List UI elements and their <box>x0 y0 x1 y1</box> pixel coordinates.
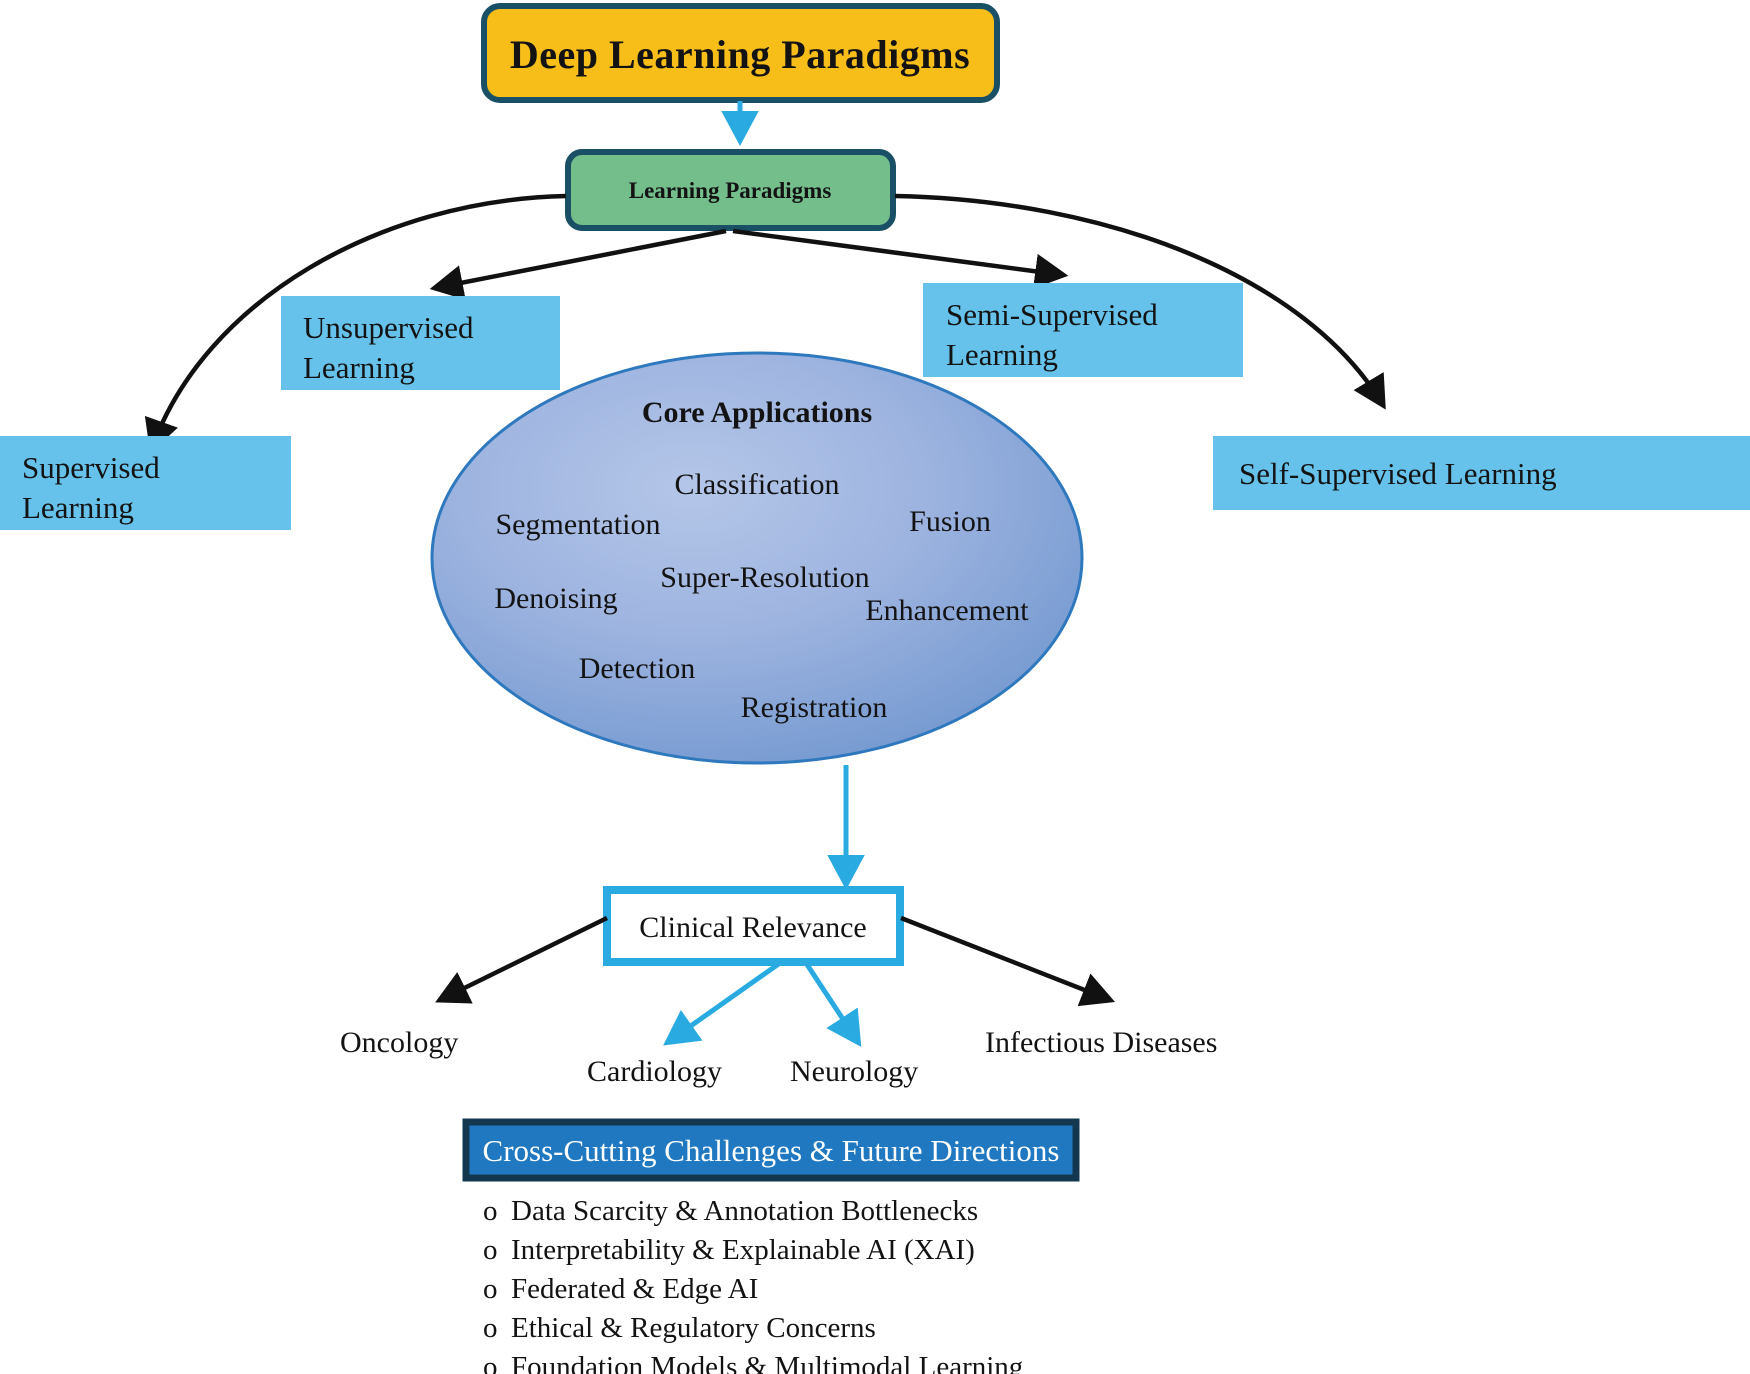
unsupervised-learning-box: Unsupervised Learning <box>281 296 560 390</box>
bullet-marker-2: o <box>483 1273 498 1305</box>
bullet-marker-4: o <box>483 1351 498 1374</box>
title-box: Deep Learning Paradigms <box>484 6 997 100</box>
cross-cutting-header: Cross-Cutting Challenges & Future Direct… <box>466 1122 1076 1178</box>
core-app-registration: Registration <box>741 691 888 724</box>
bullet-marker-1: o <box>483 1234 498 1266</box>
arrow-to-oncology <box>440 918 607 1000</box>
arrow-to-neurology <box>806 963 858 1042</box>
deep-learning-paradigms-diagram: Deep Learning Paradigms Learning Paradig… <box>0 0 1750 1374</box>
bullet-item-2: Federated & Edge AI <box>511 1273 758 1305</box>
cross-cutting-header-label: Cross-Cutting Challenges & Future Direct… <box>483 1133 1060 1168</box>
arrow-to-semi-supervised <box>733 231 1063 275</box>
self-supervised-learning-label: Self-Supervised Learning <box>1239 456 1557 491</box>
core-applications-ellipse: Core Applications Classification Segment… <box>432 353 1082 763</box>
bullet-marker-3: o <box>483 1312 498 1344</box>
clinical-domain-neurology: Neurology <box>790 1055 918 1088</box>
core-app-classification: Classification <box>675 468 840 501</box>
bullet-item-0: Data Scarcity & Annotation Bottlenecks <box>511 1195 978 1227</box>
arrow-to-infectious-diseases <box>901 918 1110 1000</box>
core-app-detection: Detection <box>579 652 696 685</box>
self-supervised-learning-box: Self-Supervised Learning <box>1213 436 1750 510</box>
core-applications-title: Core Applications <box>642 396 872 429</box>
unsupervised-learning-label-line2: Learning <box>303 350 415 385</box>
cross-cutting-list: o Data Scarcity & Annotation Bottlenecks… <box>483 1195 1023 1374</box>
unsupervised-learning-label-line1: Unsupervised <box>303 310 474 345</box>
title-box-label: Deep Learning Paradigms <box>510 32 970 77</box>
semi-supervised-learning-label-line2: Learning <box>946 337 1058 372</box>
core-app-fusion: Fusion <box>909 505 991 538</box>
semi-supervised-learning-box: Semi-Supervised Learning <box>923 283 1243 377</box>
arrow-to-cardiology <box>668 963 780 1042</box>
clinical-domain-cardiology: Cardiology <box>587 1055 722 1088</box>
supervised-learning-label-line2: Learning <box>22 490 134 525</box>
clinical-relevance-label: Clinical Relevance <box>639 911 866 944</box>
learning-paradigms-label: Learning Paradigms <box>629 178 832 203</box>
bullet-item-1: Interpretability & Explainable AI (XAI) <box>511 1234 975 1266</box>
supervised-learning-label-line1: Supervised <box>22 450 160 485</box>
core-app-super-resolution: Super-Resolution <box>660 561 869 594</box>
clinical-relevance-box: Clinical Relevance <box>607 890 900 962</box>
core-app-segmentation: Segmentation <box>496 508 661 541</box>
clinical-domain-oncology: Oncology <box>340 1026 458 1059</box>
bullet-marker-0: o <box>483 1195 498 1227</box>
learning-paradigms-box: Learning Paradigms <box>568 152 893 228</box>
semi-supervised-learning-label-line1: Semi-Supervised <box>946 297 1158 332</box>
supervised-learning-box: Supervised Learning <box>0 436 291 530</box>
core-app-enhancement: Enhancement <box>865 594 1029 627</box>
clinical-domain-infectious-diseases: Infectious Diseases <box>985 1026 1217 1059</box>
diagram-canvas: Deep Learning Paradigms Learning Paradig… <box>0 0 1750 1374</box>
bullet-item-4: Foundation Models & Multimodal Learning <box>511 1351 1023 1374</box>
core-app-denoising: Denoising <box>494 582 617 615</box>
arrow-to-unsupervised <box>435 231 726 288</box>
bullet-item-3: Ethical & Regulatory Concerns <box>511 1312 876 1344</box>
